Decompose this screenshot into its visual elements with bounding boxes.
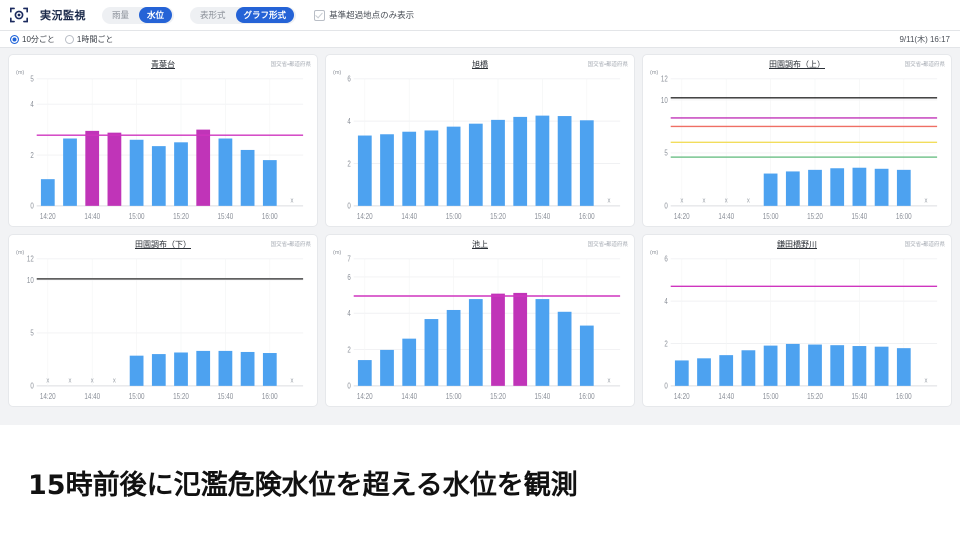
missing-data-marker: x — [608, 197, 611, 205]
checkbox-label: 基準超過地点のみ表示 — [329, 9, 414, 21]
x-tick-label: 15:20 — [490, 211, 506, 221]
chart-panel[interactable]: 鎌田橋野川国交省・都道府県(m)0246x14:2014:4015:0015:2… — [642, 234, 952, 407]
x-tick-label: 15:00 — [129, 391, 145, 401]
chart-plot-area: (m)0245x14:2014:4015:0015:2015:4016:00 — [15, 71, 311, 224]
x-tick-label: 16:00 — [579, 211, 595, 221]
chart-plot-area: (m)0246x14:2014:4015:0015:2015:4016:00 — [649, 251, 945, 404]
x-tick-label: 14:40 — [84, 391, 100, 401]
missing-data-marker: x — [725, 197, 728, 205]
x-tick-label: 15:20 — [173, 211, 189, 221]
interval-radio-group[interactable]: 10分ごと 1時間ごと — [10, 34, 113, 45]
chart-grid: 青葉台国交省・都道府県(m)0245x14:2014:4015:0015:201… — [0, 48, 960, 413]
x-tick-label: 16:00 — [896, 391, 912, 401]
x-tick-label: 15:40 — [852, 211, 868, 221]
caption-text: 15時前後に氾濫危険水位を超える水位を観測 — [28, 463, 578, 502]
interval-option-10min-label: 10分ごと — [22, 34, 55, 45]
chart-bar[interactable] — [897, 170, 911, 206]
chart-source-label: 国交省・都道府県 — [588, 240, 628, 248]
chart-bar[interactable] — [875, 347, 889, 386]
chart-bar[interactable] — [491, 294, 505, 386]
y-tick-label: 0 — [664, 202, 667, 211]
y-tick-label: 0 — [30, 382, 33, 391]
bar-chart-svg: 051012xxxxx14:2014:4015:0015:2015:4016:0… — [649, 71, 945, 224]
metric-option-waterlevel[interactable]: 水位 — [139, 7, 172, 24]
monitor-focus-icon — [8, 5, 30, 25]
y-tick-label: 4 — [347, 117, 350, 126]
chart-bar[interactable] — [108, 133, 122, 206]
chart-source-label: 国交省・都道府県 — [271, 60, 311, 68]
interval-bar: 10分ごと 1時間ごと 9/11(木) 16:17 — [0, 31, 960, 48]
x-tick-label: 15:20 — [807, 391, 823, 401]
bar-chart-svg: 0245x14:2014:4015:0015:2015:4016:00 — [15, 71, 311, 224]
chart-bar[interactable] — [196, 130, 210, 206]
bar-chart-svg: 051012xxxxx14:2014:4015:0015:2015:4016:0… — [15, 251, 311, 404]
metric-option-rainfall[interactable]: 雨量 — [104, 7, 137, 24]
interval-option-1hour[interactable]: 1時間ごと — [65, 34, 113, 45]
x-tick-label: 15:00 — [763, 211, 779, 221]
chart-bar[interactable] — [196, 351, 210, 386]
missing-data-marker: x — [91, 377, 94, 385]
y-tick-label: 0 — [664, 382, 667, 391]
chart-bar[interactable] — [764, 346, 778, 386]
missing-data-marker: x — [925, 377, 928, 385]
y-axis-unit-label: (m) — [333, 250, 341, 256]
chart-source-label: 国交省・都道府県 — [905, 60, 945, 68]
missing-data-marker: x — [925, 197, 928, 205]
y-axis-unit-label: (m) — [16, 250, 24, 256]
y-axis-unit-label: (m) — [16, 70, 24, 76]
missing-data-marker: x — [113, 377, 116, 385]
y-axis-unit-label: (m) — [333, 70, 341, 76]
chart-bar[interactable] — [63, 139, 77, 206]
chart-bar[interactable] — [513, 293, 527, 386]
y-tick-label: 5 — [664, 149, 667, 158]
x-tick-label: 15:40 — [218, 391, 234, 401]
x-tick-label: 14:20 — [40, 391, 56, 401]
chart-bar[interactable] — [380, 350, 394, 386]
exceed-only-checkbox[interactable]: 基準超過地点のみ表示 — [314, 9, 414, 21]
x-tick-label: 14:20 — [40, 211, 56, 221]
chart-panel-header: 田園調布（上）国交省・都道府県 — [649, 59, 945, 71]
y-axis-unit-label: (m) — [650, 250, 658, 256]
chart-bar[interactable] — [853, 346, 867, 386]
bar-chart-svg: 02467x14:2014:4015:0015:2015:4016:00 — [332, 251, 628, 404]
chart-panel-header: 青葉台国交省・都道府県 — [15, 59, 311, 71]
x-tick-label: 15:40 — [535, 211, 551, 221]
x-tick-label: 16:00 — [896, 211, 912, 221]
missing-data-marker: x — [46, 377, 49, 385]
chart-panel-header: 鎌田橋野川国交省・都道府県 — [649, 239, 945, 251]
chart-bar[interactable] — [241, 352, 255, 386]
missing-data-marker: x — [703, 197, 706, 205]
format-toggle[interactable]: 表形式 グラフ形式 — [190, 7, 296, 24]
chart-bar[interactable] — [425, 130, 439, 205]
caption-area: 15時前後に氾濫危険水位を超える水位を観測 — [0, 425, 960, 540]
x-tick-label: 15:40 — [852, 391, 868, 401]
y-tick-label: 2 — [347, 346, 350, 355]
x-tick-label: 14:40 — [84, 211, 100, 221]
chart-bar[interactable] — [808, 345, 822, 386]
chart-bar[interactable] — [358, 360, 372, 386]
chart-title[interactable]: 旭橋 — [332, 59, 628, 70]
chart-source-label: 国交省・都道府県 — [905, 240, 945, 248]
x-tick-label: 15:20 — [807, 211, 823, 221]
chart-plot-area: (m)051012xxxxx14:2014:4015:0015:2015:401… — [649, 71, 945, 224]
checkbox-box[interactable] — [314, 10, 325, 21]
y-tick-label: 0 — [347, 202, 350, 211]
chart-panel-header: 田園調布（下）国交省・都道府県 — [15, 239, 311, 251]
chart-plot-area: (m)02467x14:2014:4015:0015:2015:4016:00 — [332, 251, 628, 404]
y-tick-label: 6 — [347, 273, 350, 282]
chart-bar[interactable] — [130, 140, 144, 206]
chart-bar[interactable] — [830, 168, 844, 206]
missing-data-marker: x — [69, 377, 72, 385]
missing-data-marker: x — [291, 197, 294, 205]
format-option-graph[interactable]: グラフ形式 — [236, 7, 295, 24]
metric-toggle[interactable]: 雨量 水位 — [102, 7, 174, 24]
missing-data-marker: x — [608, 377, 611, 385]
x-tick-label: 14:40 — [718, 211, 734, 221]
x-tick-label: 14:40 — [401, 391, 417, 401]
y-tick-label: 2 — [30, 151, 33, 160]
chart-bar[interactable] — [786, 344, 800, 386]
chart-bar[interactable] — [447, 127, 461, 206]
x-tick-label: 14:20 — [357, 391, 373, 401]
y-tick-label: 4 — [664, 297, 667, 306]
chart-title[interactable]: 池上 — [332, 239, 628, 250]
monitoring-window: 実況監視 雨量 水位 表形式 グラフ形式 基準超過地点のみ表示 10分ごと — [0, 0, 960, 426]
chart-bar[interactable] — [830, 345, 844, 386]
chart-panel-header: 池上国交省・都道府県 — [332, 239, 628, 251]
format-option-table[interactable]: 表形式 — [192, 7, 234, 24]
chart-bar[interactable] — [219, 351, 233, 386]
y-tick-label: 7 — [347, 255, 350, 264]
chart-bar[interactable] — [536, 116, 550, 206]
chart-bar[interactable] — [513, 117, 527, 206]
x-tick-label: 16:00 — [262, 211, 278, 221]
interval-option-10min[interactable]: 10分ごと — [10, 34, 55, 45]
chart-bar[interactable] — [558, 116, 572, 206]
chart-bar[interactable] — [380, 134, 394, 206]
chart-bar[interactable] — [808, 170, 822, 206]
chart-bar[interactable] — [425, 319, 439, 386]
x-tick-label: 14:40 — [401, 211, 417, 221]
x-tick-label: 15:40 — [218, 211, 234, 221]
x-tick-label: 15:20 — [490, 391, 506, 401]
chart-bar[interactable] — [219, 139, 233, 206]
chart-bar[interactable] — [580, 326, 594, 386]
missing-data-marker: x — [291, 377, 294, 385]
chart-bar[interactable] — [675, 360, 689, 385]
chart-bar[interactable] — [174, 142, 188, 206]
chart-bar[interactable] — [402, 132, 416, 206]
y-tick-label: 12 — [27, 255, 34, 264]
chart-panel[interactable]: 池上国交省・都道府県(m)02467x14:2014:4015:0015:201… — [325, 234, 635, 407]
chart-bar[interactable] — [764, 174, 778, 206]
top-toolbar: 実況監視 雨量 水位 表形式 グラフ形式 基準超過地点のみ表示 — [0, 0, 960, 31]
chart-bar[interactable] — [402, 339, 416, 386]
y-tick-label: 12 — [661, 75, 668, 84]
chart-bar[interactable] — [853, 168, 867, 206]
x-tick-label: 15:00 — [763, 391, 779, 401]
chart-panel-header: 旭橋国交省・都道府県 — [332, 59, 628, 71]
chart-panel[interactable]: 青葉台国交省・都道府県(m)0245x14:2014:4015:0015:201… — [8, 54, 318, 227]
x-tick-label: 15:00 — [446, 391, 462, 401]
x-tick-label: 14:20 — [674, 391, 690, 401]
y-tick-label: 4 — [347, 309, 350, 318]
bar-chart-svg: 0246x14:2014:4015:0015:2015:4016:00 — [649, 251, 945, 404]
y-tick-label: 5 — [30, 329, 33, 338]
y-tick-label: 4 — [30, 100, 33, 109]
chart-title[interactable]: 青葉台 — [15, 59, 311, 70]
missing-data-marker: x — [680, 197, 683, 205]
chart-panel[interactable]: 田園調布（上）国交省・都道府県(m)051012xxxxx14:2014:401… — [642, 54, 952, 227]
chart-source-label: 国交省・都道府県 — [588, 60, 628, 68]
chart-bar[interactable] — [742, 350, 756, 386]
y-tick-label: 6 — [347, 75, 350, 84]
chart-bar[interactable] — [130, 356, 144, 386]
chart-bar[interactable] — [469, 299, 483, 386]
y-tick-label: 2 — [347, 160, 350, 169]
x-tick-label: 15:00 — [129, 211, 145, 221]
chart-bar[interactable] — [41, 179, 55, 206]
chart-bar[interactable] — [241, 150, 255, 206]
y-tick-label: 2 — [664, 340, 667, 349]
x-tick-label: 14:20 — [674, 211, 690, 221]
y-tick-label: 0 — [30, 202, 33, 211]
interval-option-1hour-label: 1時間ごと — [77, 34, 113, 45]
chart-bar[interactable] — [263, 353, 277, 386]
chart-panel[interactable]: 旭橋国交省・都道府県(m)0246x14:2014:4015:0015:2015… — [325, 54, 635, 227]
chart-bar[interactable] — [491, 120, 505, 206]
chart-bar[interactable] — [85, 131, 99, 206]
chart-bar[interactable] — [536, 299, 550, 386]
chart-title[interactable]: 田園調布（上） — [649, 59, 945, 70]
y-axis-unit-label: (m) — [650, 70, 658, 76]
app-title: 実況監視 — [40, 7, 86, 23]
chart-bar[interactable] — [263, 160, 277, 206]
chart-source-label: 国交省・都道府県 — [271, 240, 311, 248]
y-tick-label: 10 — [27, 276, 34, 285]
x-tick-label: 14:20 — [357, 211, 373, 221]
chart-bar[interactable] — [580, 120, 594, 206]
chart-title[interactable]: 田園調布（下） — [15, 239, 311, 250]
chart-bar[interactable] — [358, 136, 372, 206]
chart-title[interactable]: 鎌田橋野川 — [649, 239, 945, 250]
y-tick-label: 10 — [661, 96, 668, 105]
x-tick-label: 16:00 — [579, 391, 595, 401]
chart-panel[interactable]: 田園調布（下）国交省・都道府県(m)051012xxxxx14:2014:401… — [8, 234, 318, 407]
chart-bar[interactable] — [558, 312, 572, 386]
chart-bar[interactable] — [719, 355, 733, 386]
app-root: 実況監視 雨量 水位 表形式 グラフ形式 基準超過地点のみ表示 10分ごと — [0, 0, 960, 540]
x-tick-label: 15:20 — [173, 391, 189, 401]
chart-plot-area: (m)051012xxxxx14:2014:4015:0015:2015:401… — [15, 251, 311, 404]
x-tick-label: 16:00 — [262, 391, 278, 401]
y-tick-label: 6 — [664, 255, 667, 264]
chart-bar[interactable] — [152, 354, 166, 386]
chart-bar[interactable] — [152, 146, 166, 206]
x-tick-label: 15:00 — [446, 211, 462, 221]
chart-plot-area: (m)0246x14:2014:4015:0015:2015:4016:00 — [332, 71, 628, 224]
chart-bar[interactable] — [174, 352, 188, 385]
y-tick-label: 5 — [30, 75, 33, 84]
radio-10min-icon[interactable] — [10, 35, 19, 44]
chart-bar[interactable] — [897, 348, 911, 386]
missing-data-marker: x — [747, 197, 750, 205]
x-tick-label: 15:40 — [535, 391, 551, 401]
update-timestamp: 9/11(木) 16:17 — [899, 34, 950, 45]
y-tick-label: 0 — [347, 382, 350, 391]
radio-1hour-icon[interactable] — [65, 35, 74, 44]
chart-bar[interactable] — [875, 169, 889, 206]
chart-bar[interactable] — [469, 124, 483, 206]
x-tick-label: 14:40 — [718, 391, 734, 401]
chart-bar[interactable] — [447, 310, 461, 386]
chart-bar[interactable] — [697, 358, 711, 386]
bar-chart-svg: 0246x14:2014:4015:0015:2015:4016:00 — [332, 71, 628, 224]
chart-bar[interactable] — [786, 171, 800, 205]
